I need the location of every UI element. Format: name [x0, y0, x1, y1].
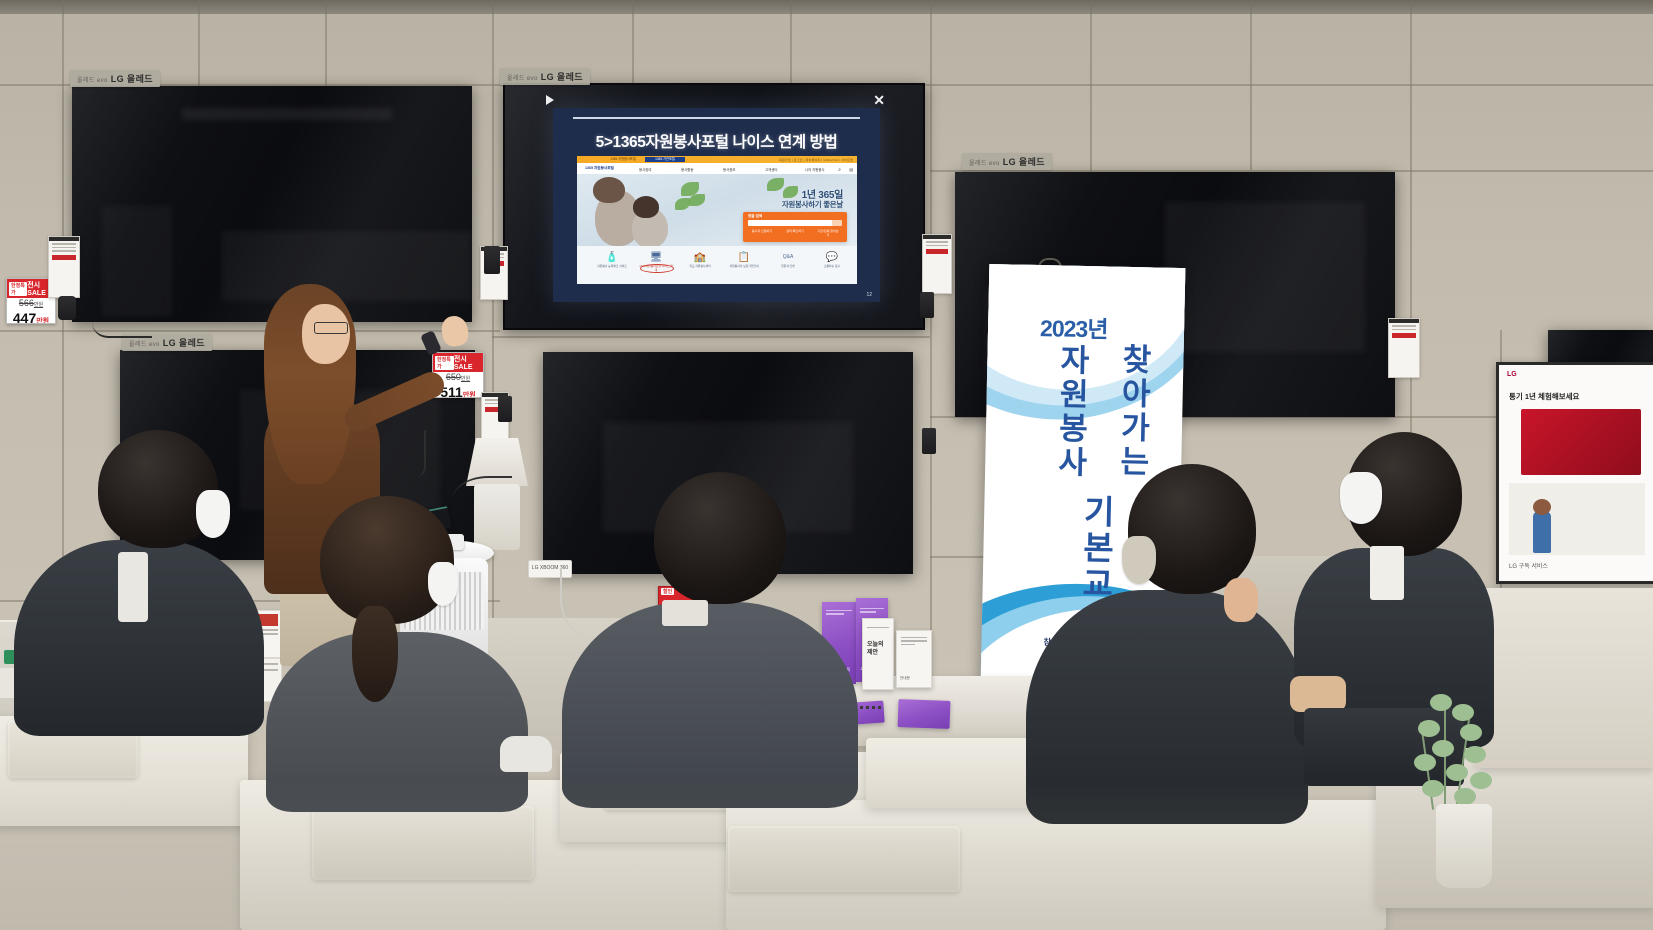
portal-topbar: 1365 자원봉사포털 1365 기관포털 회원가입 | 로그인 | 마이페이지…: [577, 156, 857, 163]
quick-icon-0: 🧴 자원봉사 능력체크 사이트: [595, 251, 629, 268]
attendee-4: [1026, 464, 1316, 824]
wall-seam: [492, 336, 930, 338]
attendee-hands: [1290, 676, 1346, 712]
poster-headline: 통기 1년 체험해보세요: [1509, 391, 1645, 402]
all-menu-icon: ▤: [849, 167, 853, 172]
portal-menu-item: 고객센터: [765, 167, 777, 172]
qa-icon: Q&A: [771, 251, 805, 264]
quick-icon-4: Q&A 질문과 답변: [771, 251, 805, 268]
monitor-icon: 🖥: [639, 251, 673, 264]
face-mask: [1122, 536, 1156, 584]
attendee-hand: [1224, 578, 1258, 622]
poster-brand: LG: [1507, 371, 1517, 378]
lg-label-right: 올레드 evoLG 올레드: [962, 153, 1052, 170]
price-tag-badge: 한정특가: [9, 282, 27, 296]
search-input[interactable]: [748, 220, 834, 226]
wall-bracket: [920, 292, 934, 318]
wall-seam: [790, 0, 792, 84]
presenter-face: [302, 304, 350, 364]
poster-subline: LG 구독 서비스: [1509, 561, 1548, 570]
lg-label-prefix: 올레드 evo: [507, 76, 538, 82]
spec-sheet: [48, 236, 80, 298]
poster-figure-head: [1533, 499, 1551, 515]
quick-icon-label: 소통하는 창구: [815, 264, 849, 268]
lg-label-prefix: 올레드 evo: [77, 78, 108, 84]
portal-menu-item: 봉사정보: [723, 167, 735, 172]
cable: [92, 322, 152, 338]
search-icon: ⌕: [838, 167, 841, 173]
attendee-2-shoe: [500, 736, 552, 772]
wall-bracket: [498, 396, 512, 422]
wall-seam: [930, 0, 932, 640]
shirt-collar: [662, 600, 708, 626]
lg-label-name: LG 올레드: [111, 74, 153, 84]
attendee-2: [258, 496, 526, 796]
quick-icon-label: 학교 자원봉사센터: [683, 264, 717, 268]
attendee-3: [562, 472, 862, 802]
quick-icon-label: 질문과 답변: [771, 264, 805, 268]
portal-tab-volunteer: 1365 자원봉사포털: [603, 157, 643, 162]
spec-sheet: [1388, 318, 1420, 378]
wall-poster: LG 통기 1년 체험해보세요 LG 구독 서비스: [1496, 362, 1653, 584]
face-mask: [1340, 472, 1382, 524]
portal-quick-icons: 🧴 자원봉사 능력체크 사이트 🖥 1365자원봉사포털 나이스 연계 🏫 학교…: [577, 246, 857, 284]
shirt-collar: [118, 552, 148, 622]
quick-link-record: 실적 확인하기: [784, 229, 806, 233]
poster-figure: [1533, 511, 1551, 553]
spec-sheet: [922, 234, 952, 294]
attendee-torso: [1026, 590, 1308, 824]
quick-icon-label: 자원봉사 능력체크 사이트: [595, 264, 629, 268]
portal-tab-agency: 1365 기관포털: [645, 157, 685, 162]
quick-icon-label: 자원봉사자 보험가입안내: [727, 264, 761, 268]
wall-bracket: [484, 246, 500, 274]
portal-hero-subline: 자원봉사하기 좋은날: [782, 199, 843, 210]
bottle-icon: 🧴: [595, 251, 629, 264]
portal-menu-item: 봉사참여: [639, 167, 651, 172]
presenter-cuff: [420, 330, 442, 356]
lg-label-prefix: 올레드 evo: [969, 161, 1000, 167]
leaflet-front-2: [898, 699, 951, 729]
chat-icon: 💬: [815, 251, 849, 264]
glasses-icon: [314, 322, 348, 334]
portal-search-panel: 맞춤 검색 봉사자 신청하기 실적 확인하기 기관/단체 찾아보기: [743, 212, 847, 242]
brochure-white-1: 오늘의 제안: [862, 618, 894, 690]
photo-scene: 올레드 evoLG 올레드 올레드 evoLG 올레드 올레드 evoLG 올레…: [0, 0, 1653, 930]
lg-label-name: LG 올레드: [163, 338, 205, 348]
wall-bracket: [58, 296, 76, 320]
quick-icon-5: 💬 소통하는 창구: [815, 251, 849, 268]
portal-utility-links: 회원가입 | 로그인 | 마이페이지 | ENGLISH | 사이트맵: [779, 158, 853, 162]
brochure-title: 오늘의 제안: [867, 641, 889, 657]
presentation-slide: 5>1365자원봉사포털 나이스 연계 방법 1365 자원봉사포털 1365 …: [553, 108, 880, 302]
play-icon[interactable]: [546, 95, 554, 105]
portal-menu-item: 봉사활동: [681, 167, 693, 172]
shirt-collar: [1370, 546, 1404, 600]
slide-accent-rule: [573, 117, 860, 119]
banner-line-volunteer: 자원봉사: [1047, 343, 1095, 480]
quick-link-apply: 봉사자 신청하기: [751, 229, 773, 233]
clipboard-icon: 📋: [727, 251, 761, 264]
slide-title: 5>1365자원봉사포털 나이스 연계 방법: [553, 130, 880, 152]
banner-line-chajaganeun: 찾아가는: [1109, 343, 1157, 480]
quick-link-find: 기관/단체 찾아보기: [817, 229, 839, 237]
presentation-tv: ✕ 5>1365자원봉사포털 나이스 연계 방법 1365 자원봉사포털 136…: [503, 83, 925, 330]
search-button[interactable]: [832, 220, 842, 226]
ceiling-strip: [0, 0, 1653, 14]
wall-seam: [632, 0, 634, 84]
quick-icon-3: 📋 자원봉사자 보험가입안내: [727, 251, 761, 268]
attendee-torso: [562, 602, 858, 808]
school-icon: 🏫: [683, 251, 717, 264]
quick-icon-2: 🏫 학교 자원봉사센터: [683, 251, 717, 268]
brochure-white-2: 안내문: [896, 630, 932, 688]
sofa-cushion: [312, 806, 534, 880]
portal-screenshot: 1365 자원봉사포털 1365 기관포털 회원가입 | 로그인 | 마이페이지…: [577, 156, 857, 284]
quick-icon-1: 🖥 1365자원봉사포털 나이스 연계: [639, 251, 673, 272]
face-mask: [428, 562, 458, 606]
face-mask: [196, 490, 230, 538]
poster-image: [1521, 409, 1641, 475]
lg-label-name: LG 올레드: [541, 72, 583, 82]
attendee-1: [14, 430, 266, 730]
price-new: 447만원: [7, 311, 55, 324]
attendee-head: [320, 496, 454, 624]
sofa-cushion: [728, 826, 960, 892]
close-icon[interactable]: ✕: [873, 93, 885, 107]
lg-label-top-left: 올레드 evoLG 올레드: [70, 70, 160, 87]
brochure-title: 안내문: [900, 676, 910, 681]
poster-scene: [1509, 483, 1645, 555]
attendee-head: [654, 472, 786, 604]
lg-label-name: LG 올레드: [1003, 157, 1045, 167]
search-panel-title: 맞춤 검색: [748, 214, 762, 219]
banner-year: 2023년: [1040, 309, 1108, 344]
plant-pot: [1436, 804, 1492, 888]
decor-plant: [1398, 688, 1518, 888]
portal-menu-item: 나의 자원봉사: [805, 167, 825, 172]
lg-label-prefix: 올레드 evo: [129, 342, 160, 348]
ponytail: [352, 606, 398, 702]
portal-logo: 1365 자원봉사포털: [585, 166, 614, 171]
quick-icon-label: 1365자원봉사포털 나이스 연계: [639, 264, 673, 272]
slide-page-number: 12: [866, 292, 872, 298]
portal-hero: 1년 365일 자원봉사하기 좋은날 맞춤 검색 봉사자 신청하기 실적 확인하…: [577, 174, 857, 246]
wall-bracket: [922, 428, 936, 454]
lg-label-center-top: 올레드 evoLG 올레드: [500, 68, 590, 85]
presenter-arm: [341, 368, 448, 435]
